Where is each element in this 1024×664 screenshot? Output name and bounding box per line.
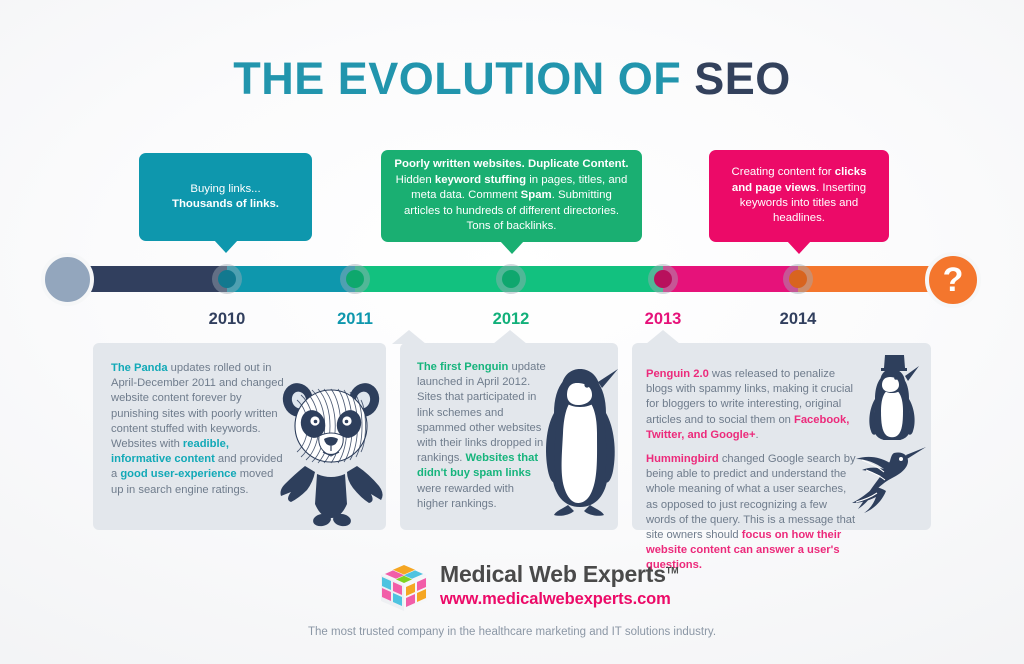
body-text: were rewarded with higher rankings. — [417, 483, 514, 510]
info-panel-2013-text: Penguin 2.0 was released to penalize blo… — [646, 367, 858, 574]
hummingbird-icon — [850, 443, 928, 515]
text-run: Poorly written websites. Duplicate Conte… — [394, 158, 628, 170]
footer-tagline: The most trusted company in the healthca… — [0, 626, 1024, 638]
text-run: Buying links... — [190, 183, 260, 195]
callout-bubble-2010: Buying links...Thousands of links. — [139, 153, 312, 241]
panel-notch-icon — [493, 330, 527, 344]
timeline-end-node-question: ? — [925, 252, 981, 308]
callout-bubble-2013: Creating content for clicks and page vie… — [709, 150, 889, 242]
logo-text-block: Medical Web ExpertsTM www.medicalwebexpe… — [440, 561, 678, 609]
timeline-segment-2014-future — [798, 266, 946, 292]
text-run: Spam — [521, 189, 552, 201]
highlight-text: The first Penguin — [417, 361, 508, 373]
callout-bubble-2013-text: Creating content for clicks and page vie… — [709, 165, 889, 227]
year-label-2014: 2014 — [743, 310, 853, 329]
infographic-canvas: THE EVOLUTION OF SEO Buying links...Thou… — [0, 0, 1024, 664]
body-text: . — [756, 429, 759, 441]
panel-notch-icon — [392, 330, 426, 344]
highlight-text: Hummingbird — [646, 453, 719, 465]
timeline-node-2010[interactable] — [212, 264, 242, 294]
year-label-2012: 2012 — [456, 310, 566, 329]
timeline: ? 20102011201220132014 — [0, 246, 1024, 326]
info-panel-2012-text: The first Penguin update launched in Apr… — [417, 360, 547, 512]
timeline-node-dot — [654, 270, 672, 288]
highlight-text: The Panda — [111, 362, 168, 374]
year-label-2011: 2011 — [300, 310, 410, 329]
timeline-segment-2010-2011 — [227, 266, 355, 292]
company-name: Medical Web ExpertsTM — [440, 561, 678, 588]
year-label-2013: 2013 — [608, 310, 718, 329]
panel-paragraph: The first Penguin update launched in Apr… — [417, 360, 547, 512]
info-panel-2011: The Panda updates rolled out in April-De… — [93, 343, 386, 530]
year-label-2010: 2010 — [172, 310, 282, 329]
body-text: update launched in April 2012. Sites tha… — [417, 361, 546, 464]
timeline-node-2014[interactable] — [783, 264, 813, 294]
timeline-node-dot — [789, 270, 807, 288]
panel-paragraph: The Panda updates rolled out in April-De… — [111, 361, 286, 498]
panel-notch-icon — [646, 330, 680, 344]
callout-bubble-2012: Poorly written websites. Duplicate Conte… — [381, 150, 642, 242]
text-run: keyword stuffing — [435, 174, 526, 186]
page-title: THE EVOLUTION OF SEO — [0, 56, 1024, 101]
highlight-text: Penguin 2.0 — [646, 368, 709, 380]
info-panel-2013: Penguin 2.0 was released to penalize blo… — [632, 343, 931, 530]
penguin-icon — [540, 355, 620, 520]
timeline-node-dot — [218, 270, 236, 288]
timeline-node-dot — [502, 270, 520, 288]
panel-paragraph: Hummingbird changed Google search by bei… — [646, 452, 858, 574]
footer-logo: Medical Web ExpertsTM www.medicalwebexpe… — [378, 560, 648, 616]
timeline-node-dot — [346, 270, 364, 288]
info-panel-2011-text: The Panda updates rolled out in April-De… — [111, 361, 286, 498]
penguin-tophat-icon — [861, 355, 923, 440]
text-run: Hidden — [396, 174, 435, 186]
trademark-symbol: TM — [666, 565, 679, 575]
body-text: changed Google search by being able to p… — [646, 453, 856, 541]
timeline-node-2012[interactable] — [496, 264, 526, 294]
text-run: Creating content for — [732, 166, 835, 178]
info-panel-2012: The first Penguin update launched in Apr… — [400, 343, 618, 530]
timeline-node-2013[interactable] — [648, 264, 678, 294]
panda-icon — [275, 378, 387, 530]
highlight-text: good user-experience — [120, 468, 236, 480]
callout-bubble-2012-text: Poorly written websites. Duplicate Conte… — [381, 157, 642, 234]
page-title-part2: SEO — [694, 53, 791, 104]
callout-bubble-2010-text: Buying links...Thousands of links. — [160, 182, 291, 213]
body-text: updates rolled out in April-December 201… — [111, 362, 284, 450]
timeline-start-node — [41, 253, 94, 306]
timeline-segment-2013-2014 — [663, 266, 798, 292]
timeline-node-2011[interactable] — [340, 264, 370, 294]
panel-paragraph: Penguin 2.0 was released to penalize blo… — [646, 367, 858, 443]
company-name-text: Medical Web Experts — [440, 561, 666, 587]
text-run: Thousands of links. — [172, 198, 279, 210]
cube-logo-icon — [378, 562, 430, 614]
company-url[interactable]: www.medicalwebexperts.com — [440, 590, 678, 609]
page-title-part1: THE EVOLUTION OF — [233, 53, 694, 104]
